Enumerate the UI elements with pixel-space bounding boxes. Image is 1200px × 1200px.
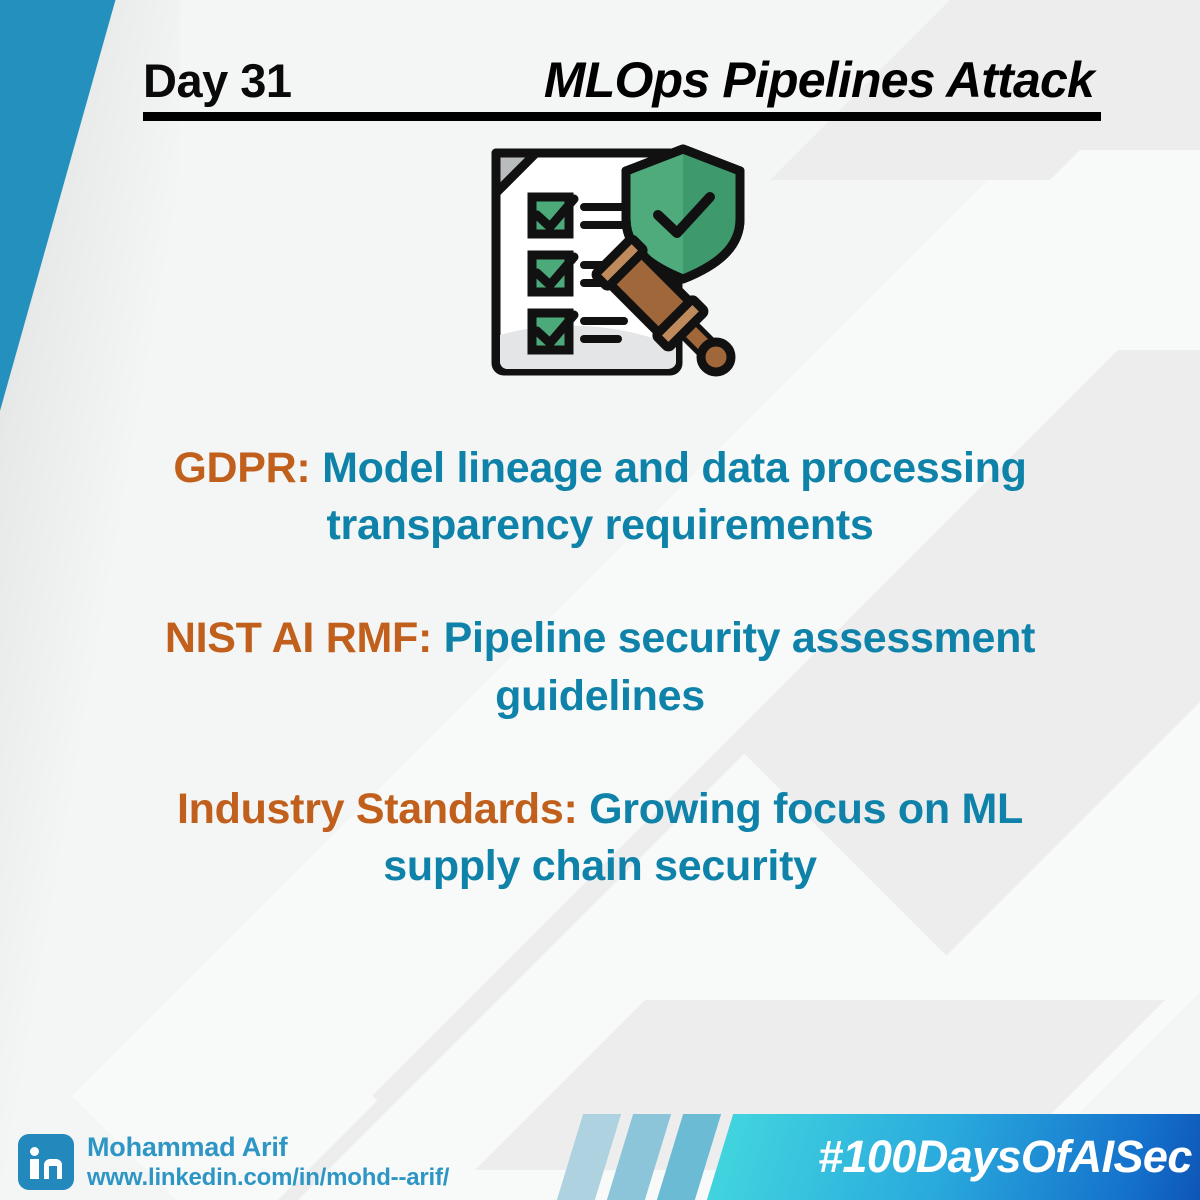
body-points: GDPR: Model lineage and data processing …: [110, 440, 1090, 895]
hashtag-badge: #100DaysOfAISec: [707, 1114, 1200, 1200]
linkedin-icon-dot: [30, 1147, 39, 1156]
hashtag-label: #100DaysOfAISec: [788, 1131, 1192, 1183]
linkedin-icon-n: [44, 1159, 62, 1179]
header: Day 31 MLOps Pipelines Attack: [143, 38, 1100, 122]
hashtag-banner: #100DaysOfAISec: [570, 1114, 1200, 1200]
header-divider: [143, 112, 1101, 121]
point-text: Pipeline security assessment guidelines: [432, 614, 1035, 719]
poster-canvas: Day 31 MLOps Pipelines Attack: [0, 0, 1200, 1200]
footer: Mohammad Arif www.linkedin.com/in/mohd--…: [0, 1090, 1200, 1200]
linkedin-icon-bar: [30, 1159, 39, 1179]
compliance-checklist-shield-gavel-icon: [478, 135, 748, 395]
point-label: NIST AI RMF:: [165, 614, 432, 662]
linkedin-icon[interactable]: [18, 1134, 74, 1190]
point-text: Model lineage and data processing transp…: [310, 444, 1026, 549]
point-item: Industry Standards: Growing focus on ML …: [110, 781, 1090, 895]
point-item: NIST AI RMF: Pipeline security assessmen…: [110, 610, 1090, 724]
profile-name: Mohammad Arif: [87, 1132, 449, 1164]
page-title: MLOps Pipelines Attack: [544, 51, 1100, 109]
profile-url[interactable]: www.linkedin.com/in/mohd--arif/: [87, 1164, 449, 1192]
profile-block[interactable]: Mohammad Arif www.linkedin.com/in/mohd--…: [18, 1132, 449, 1192]
point-label: GDPR:: [173, 444, 310, 492]
profile-text: Mohammad Arif www.linkedin.com/in/mohd--…: [87, 1132, 449, 1192]
point-label: Industry Standards:: [177, 785, 577, 833]
point-item: GDPR: Model lineage and data processing …: [110, 440, 1090, 554]
day-label: Day 31: [143, 53, 292, 108]
